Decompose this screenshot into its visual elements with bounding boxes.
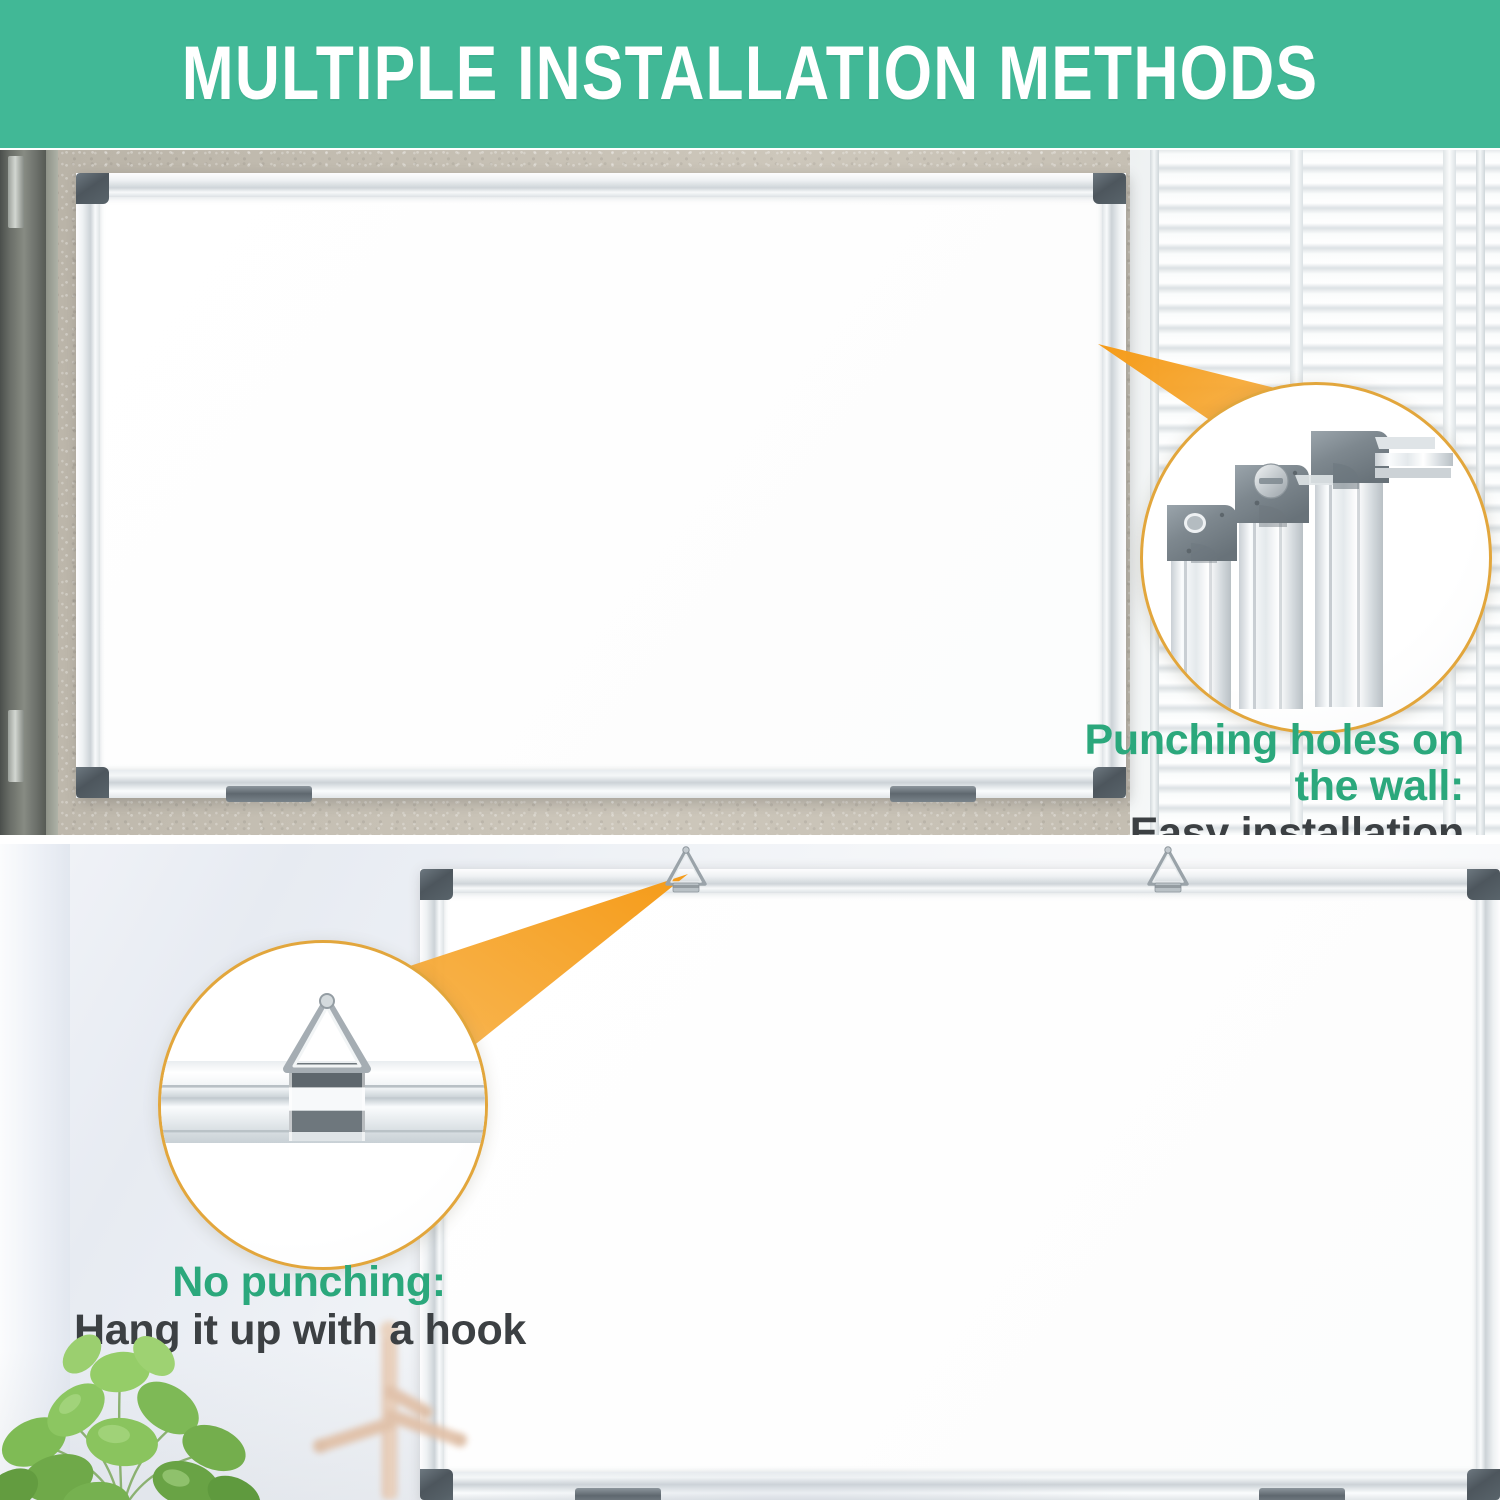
desk-shadow-hint xyxy=(430,1466,1150,1500)
whiteboard-wall-mounted xyxy=(76,173,1126,798)
frame-rail-top xyxy=(76,173,1126,197)
door-gap-shadow xyxy=(46,150,58,835)
pothos-plant-icon xyxy=(0,1292,272,1500)
whiteboard-frame xyxy=(76,173,1126,798)
zoom-detail-circle-corner-bracket xyxy=(1140,382,1492,734)
hook-bracket xyxy=(289,1063,365,1141)
triangle-hook-icon-right xyxy=(1142,844,1194,894)
panel-divider xyxy=(0,835,1500,844)
pen-tray-clip-left xyxy=(575,1488,661,1500)
panel-punching-holes: Punching holes on the wall: Easy install… xyxy=(0,150,1500,835)
triangle-hook-icon-left xyxy=(660,844,712,894)
corner-cap-top-right xyxy=(1093,173,1126,204)
door-hinge-bottom xyxy=(8,710,24,782)
corner-bracket-illustration xyxy=(1143,385,1492,734)
corner-cap-bottom-right xyxy=(1467,1469,1500,1500)
callout-body-line1: Easy installation xyxy=(944,811,1464,835)
pen-tray-clip-right xyxy=(1259,1488,1345,1500)
corner-cap-top-left xyxy=(76,173,109,204)
page-title: MULTIPLE INSTALLATION METHODS xyxy=(182,36,1319,112)
callout-heading-line2: the wall: xyxy=(944,764,1464,810)
whiteboard-writing-surface xyxy=(100,197,1102,770)
callout-heading-line1: Punching holes on xyxy=(944,718,1464,764)
callout-punching-holes: Punching holes on the wall: Easy install… xyxy=(944,718,1464,835)
frame-rail-right xyxy=(1476,869,1500,1500)
product-infographic-page: MULTIPLE INSTALLATION METHODS xyxy=(0,0,1500,1500)
corner-cap-bottom-left xyxy=(76,767,109,798)
hook-on-rail-illustration xyxy=(161,943,488,1270)
header-banner: MULTIPLE INSTALLATION METHODS xyxy=(0,0,1500,148)
pen-tray-clip-left xyxy=(226,786,312,802)
bracket-unit-back xyxy=(1311,431,1453,707)
door-frame xyxy=(0,150,46,835)
door-hinge-top xyxy=(8,156,24,228)
corner-cap-top-right xyxy=(1467,869,1500,900)
triangle-wire-hook xyxy=(287,994,367,1069)
frame-rail-left xyxy=(76,173,100,798)
zoom-detail-circle-hook xyxy=(158,940,488,1270)
panel-no-punching: No punching: Hang it up with a hook xyxy=(0,844,1500,1500)
